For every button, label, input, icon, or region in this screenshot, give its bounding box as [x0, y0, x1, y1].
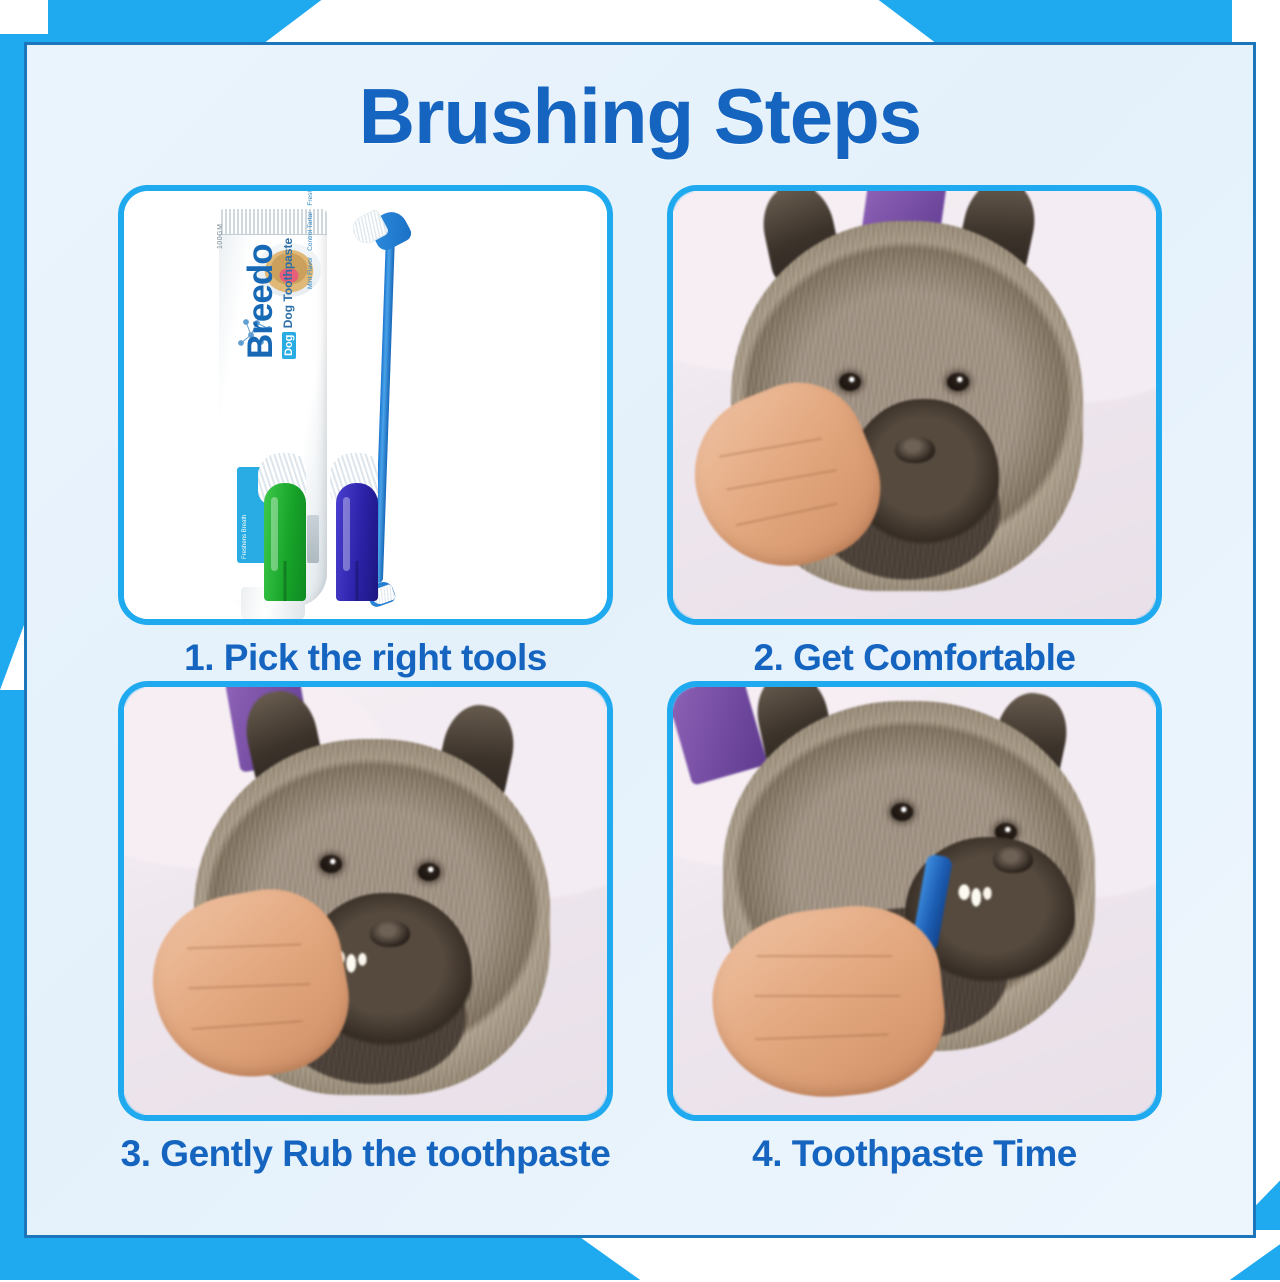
finger-crease-1 — [756, 955, 892, 957]
feature-bullets: Mint Flavor Control Tartar Fresh Breath — [307, 185, 314, 289]
green-finger-brush-body — [264, 483, 306, 601]
dog-eye-right — [947, 373, 969, 391]
dog-tag: Dog — [282, 332, 296, 359]
step-3-image — [118, 681, 613, 1121]
step-card-3: 3. Gently Rub the toothpaste — [118, 681, 613, 1175]
page-title: Brushing Steps — [27, 77, 1253, 155]
product-type-label: Dog Dog Toothpaste — [281, 238, 295, 359]
tube-net-weight: 100GM — [217, 224, 224, 249]
dog-nose — [370, 921, 410, 947]
finger-crease-2 — [188, 983, 310, 989]
step-4-caption: 4. Toothpaste Time — [752, 1133, 1077, 1175]
steps-grid: 100GM — [118, 185, 1162, 1175]
finger-crease-3 — [755, 1034, 889, 1041]
finger-crease-3 — [736, 503, 838, 527]
feature-bullet-1: Control Tartar — [307, 212, 314, 251]
product-type-text: Dog Toothpaste — [281, 238, 295, 328]
finger-crease-2 — [726, 469, 837, 490]
dog-nose — [895, 437, 935, 463]
finger-crease-1 — [719, 438, 822, 458]
step-1-caption: 1. Pick the right tools — [184, 637, 547, 679]
step-1-image: 100GM — [118, 185, 613, 625]
step-2-caption: 2. Get Comfortable — [754, 637, 1076, 679]
dog-photo-calm — [673, 191, 1156, 619]
infographic-card: Brushing Steps 100GM — [24, 42, 1256, 1238]
purple-finger-brush — [330, 451, 384, 601]
step-2-image — [667, 185, 1162, 625]
dog-eye-left — [839, 373, 861, 391]
step-card-2: 2. Get Comfortable — [667, 185, 1162, 679]
feature-bullet-0: Mint Flavor — [307, 257, 314, 289]
dog-eye-left — [891, 803, 913, 821]
step-card-4: 4. Toothpaste Time — [667, 681, 1162, 1175]
finger-crease-3 — [191, 1020, 303, 1030]
dog-photo-rubbing — [124, 687, 607, 1115]
dog-eye-right — [418, 863, 440, 881]
dog-teeth — [957, 883, 997, 909]
dog-photo-brushing — [673, 687, 1156, 1115]
finger-crease-2 — [754, 995, 900, 997]
dog-nose — [993, 847, 1033, 873]
dog-eye-left — [320, 855, 342, 873]
step-3-caption: 3. Gently Rub the toothpaste — [121, 1133, 611, 1175]
tube-label-line-0: Freshens Breath — [241, 515, 250, 559]
product-photo: 100GM — [124, 191, 607, 619]
step-4-image — [667, 681, 1162, 1121]
purple-finger-brush-body — [336, 483, 378, 601]
feature-bullet-2: Fresh Breath — [307, 185, 314, 206]
step-card-1: 100GM — [118, 185, 613, 679]
green-finger-brush — [258, 451, 312, 601]
brand-name: Breedo — [241, 244, 281, 359]
finger-crease-1 — [187, 943, 301, 949]
top-left-white-corner — [0, 0, 48, 34]
